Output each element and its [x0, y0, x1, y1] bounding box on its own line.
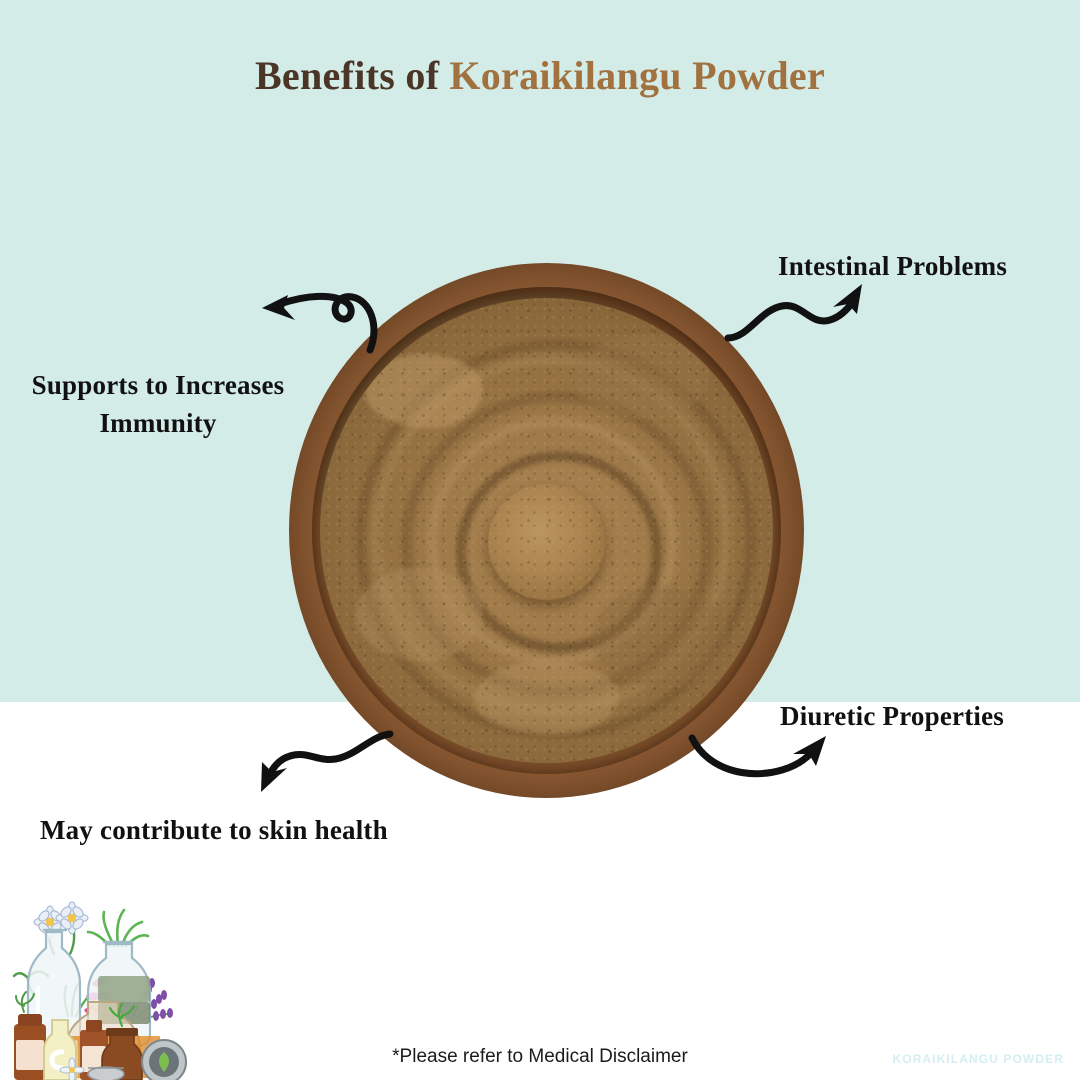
benefits-poster: Benefits ofKoraikilangu Powder [0, 0, 1080, 1080]
title-prefix: Benefits of [255, 53, 439, 98]
metal-cap [88, 1067, 124, 1080]
arrow-to-intestinal [726, 276, 871, 346]
benefit-label-immunity: Supports to Increases Immunity [8, 366, 308, 443]
arrow-to-skin-health [248, 730, 393, 800]
powder-mound [320, 298, 773, 763]
arrow-to-immunity [248, 282, 383, 352]
arrow-to-diuretic [686, 726, 841, 796]
title-product: Koraikilangu Powder [449, 53, 825, 98]
benefit-label-skin: May contribute to skin health [40, 811, 388, 849]
benefit-label-diuretic: Diuretic Properties [780, 697, 1004, 735]
powder-grain-texture [320, 298, 773, 763]
page-title: Benefits ofKoraikilangu Powder [0, 52, 1080, 99]
brand-watermark: KORAIKILANGU POWDER [892, 1052, 1064, 1066]
benefit-label-intestinal: Intestinal Problems [778, 247, 1007, 285]
